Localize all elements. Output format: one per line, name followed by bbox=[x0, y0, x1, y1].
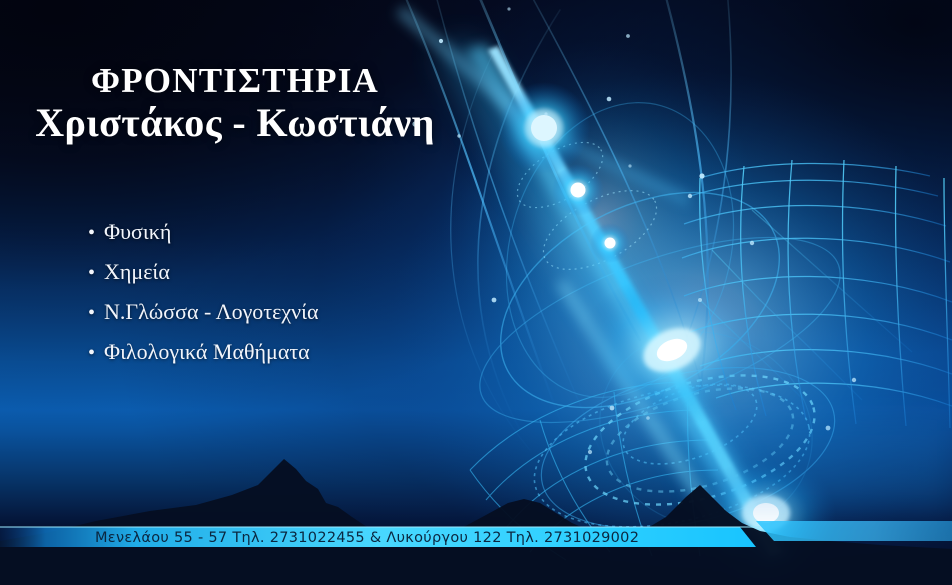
list-item: • Φιλολογικά Μαθήματα bbox=[88, 339, 319, 379]
title-block: ΦΡΟΝΤΙΣΤΗΡΙΑ Χριστάκος - Κωστιάνη bbox=[0, 62, 470, 146]
subject-label: Ν.Γλώσσα - Λογοτεχνία bbox=[104, 299, 319, 325]
list-item: • Ν.Γλώσσα - Λογοτεχνία bbox=[88, 299, 319, 339]
list-item: • Χημεία bbox=[88, 259, 319, 299]
subject-list: • Φυσική • Χημεία • Ν.Γλώσσα - Λογοτεχνί… bbox=[88, 219, 319, 379]
subject-label: Χημεία bbox=[104, 259, 170, 285]
subject-label: Φιλολογικά Μαθήματα bbox=[104, 339, 310, 365]
page-title-line2: Χριστάκος - Κωστιάνη bbox=[0, 99, 470, 146]
bullet-icon: • bbox=[88, 263, 104, 283]
bullet-icon: • bbox=[88, 223, 104, 243]
subject-label: Φυσική bbox=[104, 219, 171, 245]
promotional-banner: Μενελάου 55 - 57 Τηλ. 2731022455 & Λυκού… bbox=[0, 0, 952, 585]
footer-contact-text: Μενελάου 55 - 57 Τηλ. 2731022455 & Λυκού… bbox=[95, 530, 639, 546]
list-item: • Φυσική bbox=[88, 219, 319, 259]
bullet-icon: • bbox=[88, 343, 104, 363]
bullet-icon: • bbox=[88, 303, 104, 323]
page-title-line1: ΦΡΟΝΤΙΣΤΗΡΙΑ bbox=[0, 62, 470, 99]
mountain-silhouette bbox=[0, 445, 952, 585]
